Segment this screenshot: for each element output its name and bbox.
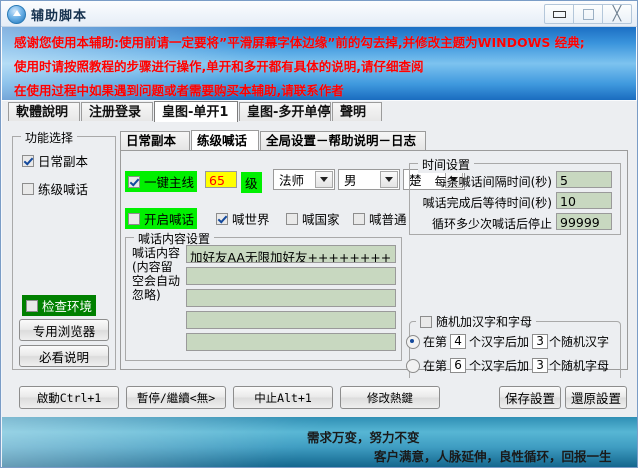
window-controls: ╳	[545, 4, 632, 24]
gender-select-value: 男	[344, 170, 357, 189]
shout-content-group: 喊话内容设置 喊话内容 (内容留 空会自动 忽略) 加好友AA无限加好友++++…	[125, 237, 402, 361]
inner-tab-strip: 日常副本 练级喊话 全局设置－帮助说明－日志	[120, 130, 628, 150]
shout-content-input-4[interactable]	[186, 311, 396, 329]
window-title: 辅助脚本	[31, 5, 87, 24]
wait-time-label: 喊话完成后等待时间(秒)	[410, 194, 552, 211]
checkbox-shout-world[interactable]: 喊世界	[216, 209, 270, 228]
must-read-button[interactable]: 必看说明	[19, 345, 109, 367]
radio-random-letters[interactable]	[406, 359, 420, 373]
function-select-group: 功能选择 日常副本 练级喊话 检查环境 专用浏览器 必看说明	[12, 136, 116, 370]
tab-huangtu-single[interactable]: 皇图-单开1	[154, 101, 238, 122]
checkbox-enable-shout-box[interactable]	[128, 213, 140, 225]
checkbox-random-chars[interactable]: 随机加汉字和字母	[416, 313, 536, 330]
radio-random-hanzi[interactable]	[406, 335, 420, 349]
checkbox-onekey-mainline-box[interactable]	[128, 176, 140, 188]
tab-statement[interactable]: 聲明	[332, 102, 382, 121]
footer-line-1: 需求万变，努力不变	[307, 427, 420, 446]
action-button-bar: 啟動Ctrl+1 暫停/繼續<無> 中止Alt+1 修改熱鍵 保存設置 還原設置	[2, 378, 637, 417]
dedicated-browser-button[interactable]: 专用浏览器	[19, 319, 109, 341]
shout-content-label-line-2: (内容留	[132, 260, 190, 274]
checkbox-shout-country[interactable]: 喊国家	[286, 209, 340, 228]
time-settings-title: 时间设置	[418, 156, 474, 173]
tab-software-info[interactable]: 軟體說明	[8, 102, 80, 121]
radio-random-hanzi-n2[interactable]: 3	[532, 334, 548, 349]
radio-random-letters-prefix: 在第	[423, 357, 447, 374]
checkbox-check-environment[interactable]: 检查环境	[22, 295, 96, 316]
shout-content-label-line-4: 忽略)	[132, 288, 190, 302]
radio-random-hanzi-prefix: 在第	[423, 333, 447, 350]
radio-random-hanzi-row[interactable]: 在第 4 个汉字后加 3 个随机汉字	[406, 333, 609, 350]
loop-count-label: 循环多少次喊话后停止	[418, 215, 552, 232]
notice-line-3: 在使用过程中如果遇到问题或者需要购买本辅助,请联系作者	[14, 79, 636, 100]
shout-content-input-2[interactable]	[186, 267, 396, 285]
radio-random-hanzi-n1[interactable]: 4	[450, 334, 466, 349]
checkbox-daily-dungeon[interactable]: 日常副本	[22, 151, 88, 170]
function-select-title: 功能选择	[21, 129, 77, 146]
checkbox-level-shout[interactable]: 练级喊话	[22, 179, 88, 198]
footer-line-2: 客户满意，人脉延伸，良性循环，回报一生	[374, 446, 612, 465]
checkbox-onekey-mainline-label: 一键主线	[144, 172, 194, 191]
inner-tab-global-help-log[interactable]: 全局设置－帮助说明－日志	[260, 131, 426, 150]
stop-button[interactable]: 中止Alt+1	[233, 386, 333, 409]
checkbox-level-shout-box[interactable]	[22, 183, 34, 195]
title-bar: 辅助脚本 ╳	[1, 1, 637, 27]
random-chars-group: 随机加汉字和字母 在第 4 个汉字后加 3 个随机汉字 在第 6	[409, 321, 621, 385]
class-select[interactable]: 法师	[273, 169, 335, 190]
checkbox-shout-country-box[interactable]	[286, 213, 298, 225]
page-content: 功能选择 日常副本 练级喊话 检查环境 专用浏览器 必看说明 日常副本 练级喊话…	[2, 122, 637, 378]
notice-banner: 感谢您使用本辅助:使用前请一定要将”平滑屏幕字体边缘”前的勾去掉,并修改主题为W…	[2, 27, 636, 100]
checkbox-shout-world-box[interactable]	[216, 213, 228, 225]
tab-huangtu-multi[interactable]: 皇图-多开单停	[239, 102, 331, 121]
maximize-icon	[583, 9, 594, 20]
shout-content-input-3[interactable]	[186, 289, 396, 307]
checkbox-shout-country-label: 喊国家	[302, 209, 340, 228]
checkbox-daily-dungeon-box[interactable]	[22, 155, 34, 167]
checkbox-daily-dungeon-label: 日常副本	[38, 151, 88, 170]
checkbox-shout-normal-label: 喊普通	[369, 209, 407, 228]
gender-select[interactable]: 男	[338, 169, 400, 190]
radio-random-letters-n1[interactable]: 6	[450, 358, 466, 373]
minimize-button[interactable]	[544, 4, 574, 24]
maximize-button[interactable]	[573, 4, 603, 24]
notice-line-1: 感谢您使用本辅助:使用前请一定要将”平滑屏幕字体边缘”前的勾去掉,并修改主题为W…	[14, 31, 636, 55]
right-content-panel: 日常副本 练级喊话 全局设置－帮助说明－日志 一键主线 65 级 法师 男	[120, 130, 628, 370]
wait-time-input[interactable]: 10	[556, 192, 612, 209]
loop-count-input[interactable]: 99999	[556, 213, 612, 230]
chevron-down-icon[interactable]	[315, 171, 333, 188]
checkbox-enable-shout[interactable]: 开启喊话	[125, 208, 197, 229]
inner-tab-panel: 一键主线 65 级 法师 男 楚	[120, 150, 628, 370]
notice-line-2: 使用时请按照教程的步骤进行操作,单开和多开都有具体的说明,请仔细查阅	[14, 55, 636, 79]
close-icon: ╳	[603, 6, 631, 22]
radio-random-letters-row[interactable]: 在第 6 个汉字后加 3 个随机字母	[406, 357, 609, 374]
checkbox-onekey-mainline[interactable]: 一键主线	[125, 171, 197, 192]
interval-time-label: 每条喊话间隔时间(秒)	[414, 173, 552, 190]
checkbox-random-chars-label: 随机加汉字和字母	[436, 313, 532, 330]
restore-settings-button[interactable]: 還原設置	[565, 386, 627, 409]
time-settings-group: 时间设置 每条喊话间隔时间(秒) 5 喊话完成后等待时间(秒) 10 循环多少次…	[409, 163, 621, 235]
checkbox-shout-world-label: 喊世界	[232, 209, 270, 228]
shout-content-input-5[interactable]	[186, 333, 396, 351]
radio-random-letters-suffix: 个随机字母	[549, 357, 609, 374]
checkbox-check-environment-label: 检查环境	[42, 296, 92, 315]
pause-resume-button[interactable]: 暫停/繼續<無>	[126, 386, 226, 409]
radio-random-hanzi-suffix: 个随机汉字	[549, 333, 609, 350]
start-button[interactable]: 啟動Ctrl+1	[19, 386, 119, 409]
inner-tab-daily-dungeon[interactable]: 日常副本	[120, 131, 190, 150]
save-settings-button[interactable]: 保存設置	[499, 386, 561, 409]
level-value-input[interactable]: 65	[205, 171, 237, 188]
shout-content-label-line-3: 空会自动	[132, 274, 190, 288]
application-window: 辅助脚本 ╳ 感谢您使用本辅助:使用前请一定要将”平滑屏幕字体边缘”前的勾去掉,…	[0, 0, 638, 468]
footer-banner: 需求万变，努力不变 客户满意，人脉延伸，良性循环，回报一生	[2, 417, 637, 467]
inner-tab-level-shout[interactable]: 练级喊话	[191, 130, 259, 150]
checkbox-random-chars-box[interactable]	[420, 316, 432, 328]
class-select-value: 法师	[279, 170, 304, 189]
checkbox-enable-shout-label: 开启喊话	[144, 209, 194, 228]
radio-random-letters-n2[interactable]: 3	[532, 358, 548, 373]
checkbox-check-environment-box[interactable]	[26, 300, 38, 312]
interval-time-input[interactable]: 5	[556, 171, 612, 188]
tab-register-login[interactable]: 注册登录	[81, 102, 153, 121]
shout-content-label: 喊话内容 (内容留 空会自动 忽略)	[132, 246, 190, 302]
level-unit-label: 级	[241, 172, 262, 193]
minimize-icon	[553, 11, 566, 18]
chevron-down-icon[interactable]	[380, 171, 398, 188]
checkbox-level-shout-label: 练级喊话	[38, 179, 88, 198]
close-button[interactable]: ╳	[602, 4, 632, 24]
shout-content-label-line-1: 喊话内容	[132, 246, 190, 260]
app-icon	[7, 5, 26, 24]
checkbox-shout-normal[interactable]: 喊普通	[353, 209, 407, 228]
radio-random-hanzi-mid: 个汉字后加	[469, 333, 529, 350]
main-tab-strip: 軟體說明 注册登录 皇图-单开1 皇图-多开单停 聲明	[2, 101, 637, 123]
modify-hotkey-button[interactable]: 修改熱鍵	[340, 386, 440, 409]
radio-random-letters-mid: 个汉字后加	[469, 357, 529, 374]
shout-content-input-1[interactable]: 加好友AA无限加好友++++++++	[186, 245, 396, 263]
checkbox-shout-normal-box[interactable]	[353, 213, 365, 225]
